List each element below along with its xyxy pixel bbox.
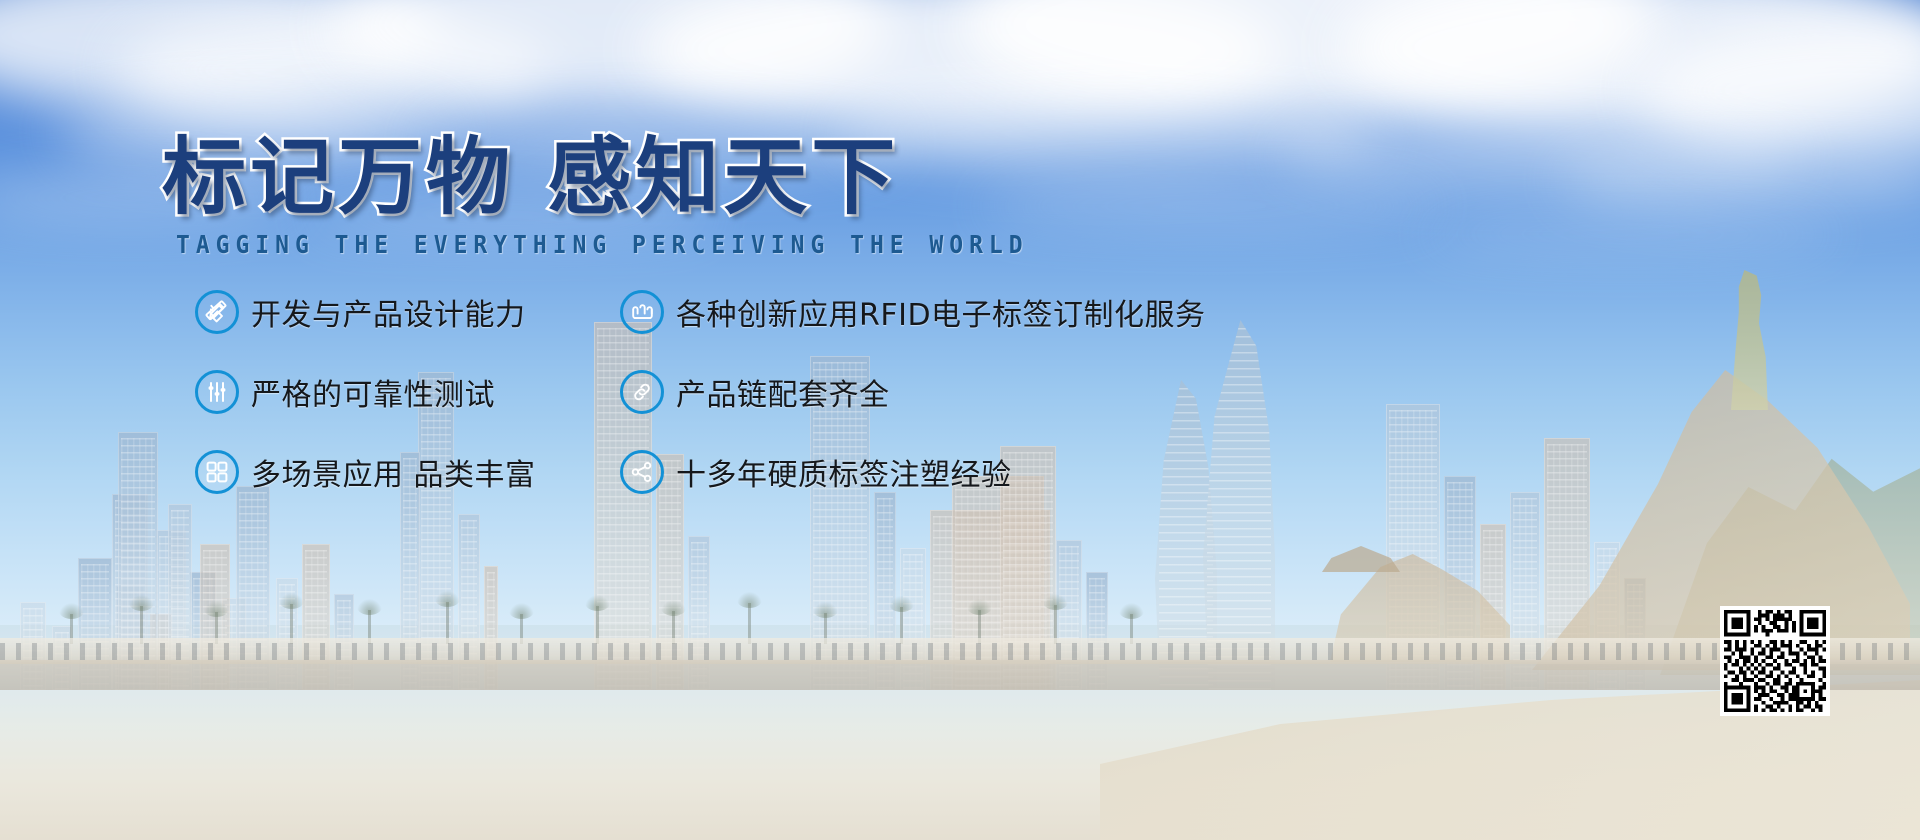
feature-item-design-capability: 开发与产品设计能力 xyxy=(195,288,536,336)
feature-label: 多场景应用 品类丰富 xyxy=(251,450,536,494)
feature-item-reliability-testing: 严格的可靠性测试 xyxy=(195,368,536,416)
sliders-icon xyxy=(195,370,239,414)
feature-label: 产品链配套齐全 xyxy=(676,370,890,414)
qr-code[interactable] xyxy=(1720,606,1830,716)
page-title: 标记万物 感知天下 xyxy=(162,133,899,221)
crown-icon xyxy=(620,290,664,334)
qr-code-image xyxy=(1720,606,1830,716)
feature-item-multi-scenario: 多场景应用 品类丰富 xyxy=(195,448,536,496)
feature-item-molding-experience: 十多年硬质标签注塑经验 xyxy=(620,448,1206,496)
feature-column-right: 各种创新应用RFID电子标签订制化服务 产品链配套齐全 xyxy=(620,288,1206,528)
share-nodes-icon xyxy=(620,450,664,494)
chain-link-icon xyxy=(620,370,664,414)
promo-banner: 标记万物 感知天下 TAGGING THE EVERYTHING PERCEIV… xyxy=(0,0,1920,840)
feature-label: 各种创新应用RFID电子标签订制化服务 xyxy=(676,290,1206,334)
pavilion-roof xyxy=(1322,546,1400,572)
promenade-railing xyxy=(0,638,1920,664)
grid-squares-icon xyxy=(195,450,239,494)
feature-label: 严格的可靠性测试 xyxy=(251,370,495,414)
page-subtitle: TAGGING THE EVERYTHING PERCEIVING THE WO… xyxy=(176,230,1029,259)
feature-label: 开发与产品设计能力 xyxy=(251,290,526,334)
feature-column-left: 开发与产品设计能力 严格的可靠性测试 xyxy=(195,288,536,528)
feature-label: 十多年硬质标签注塑经验 xyxy=(676,450,1012,494)
ruler-pencil-icon xyxy=(195,290,239,334)
feature-item-rfid-customization: 各种创新应用RFID电子标签订制化服务 xyxy=(620,288,1206,336)
feature-item-supply-chain: 产品链配套齐全 xyxy=(620,368,1206,416)
quay-wall xyxy=(0,660,1920,690)
